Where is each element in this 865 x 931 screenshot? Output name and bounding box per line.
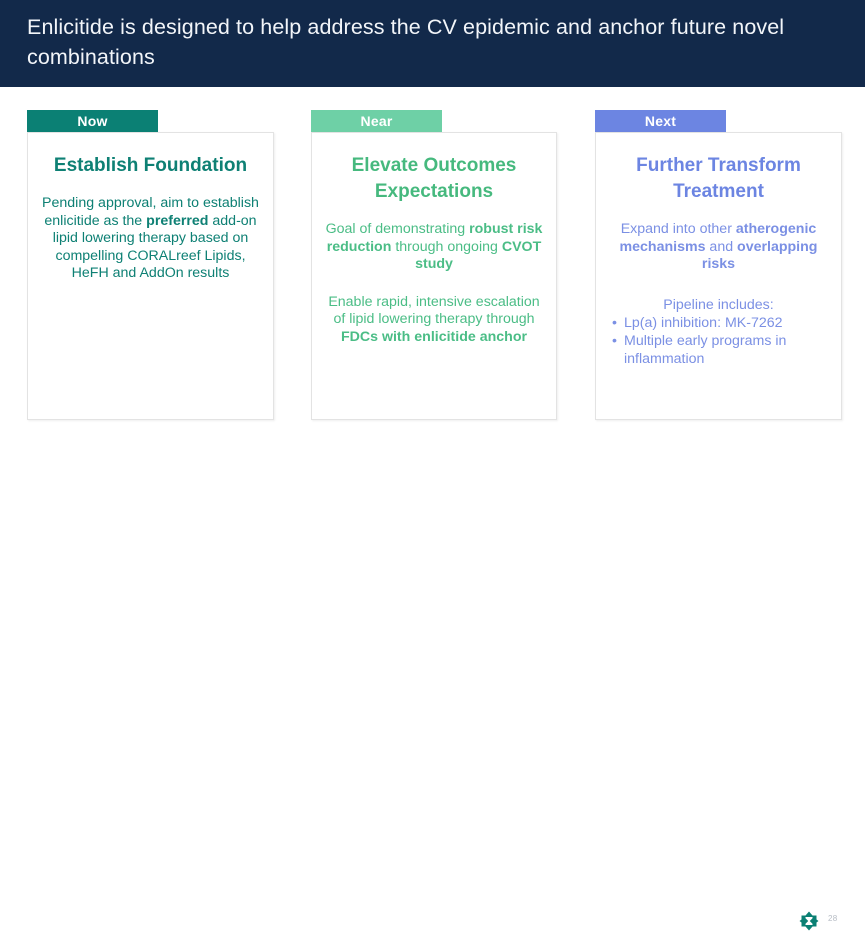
- roadmap-column-near: Near Elevate Outcomes Expectations Goal …: [311, 110, 557, 420]
- card-title-near: Elevate Outcomes Expectations: [324, 153, 544, 205]
- body-text: Enable rapid, intensive escalation of li…: [328, 294, 539, 328]
- pipeline-bullet-list: •Lp(a) inhibition: MK-7262•Multiple earl…: [608, 314, 829, 368]
- pipeline-label: Pipeline includes:: [608, 296, 829, 314]
- card-body-near-1: Enable rapid, intensive escalation of li…: [324, 294, 544, 347]
- list-item-label: Multiple early programs in inflammation: [624, 333, 786, 367]
- bullet-dot-icon: •: [612, 332, 617, 350]
- company-logo-icon: [799, 911, 819, 931]
- phase-card-now: Establish Foundation Pending approval, a…: [27, 132, 274, 420]
- phase-card-next: Further Transform Treatment Expand into …: [595, 132, 842, 420]
- body-text: and: [705, 239, 737, 255]
- roadmap-column-now: Now Establish Foundation Pending approva…: [27, 110, 274, 420]
- card-body-next-0: Expand into other atherogenic mechanisms…: [608, 221, 829, 274]
- page-title: Enlicitide is designed to help address t…: [27, 12, 827, 72]
- body-text: Expand into other: [621, 221, 736, 237]
- slide-footer: 28: [0, 452, 865, 485]
- phase-tab-now[interactable]: Now: [27, 110, 158, 132]
- body-text: through ongoing: [391, 239, 501, 255]
- phase-tab-next[interactable]: Next: [595, 110, 726, 132]
- list-item: •Lp(a) inhibition: MK-7262: [608, 314, 829, 332]
- slide-header-band: Enlicitide is designed to help address t…: [0, 0, 865, 87]
- roadmap-column-next: Next Further Transform Treatment Expand …: [595, 110, 842, 420]
- body-text: Goal of demonstrating: [326, 221, 470, 237]
- card-body-now-0: Pending approval, aim to establish enlic…: [40, 195, 261, 283]
- list-item: •Multiple early programs in inflammation: [608, 332, 829, 368]
- card-title-next: Further Transform Treatment: [608, 153, 829, 205]
- phase-tab-near[interactable]: Near: [311, 110, 442, 132]
- card-body-near-0: Goal of demonstrating robust risk reduct…: [324, 221, 544, 274]
- bullet-dot-icon: •: [612, 314, 617, 332]
- emphasis-text: FDCs with enlicitide anchor: [341, 329, 527, 345]
- phase-card-near: Elevate Outcomes Expectations Goal of de…: [311, 132, 557, 420]
- emphasis-text: preferred: [146, 213, 208, 229]
- card-title-now: Establish Foundation: [40, 153, 261, 179]
- page-number: 28: [828, 914, 838, 923]
- list-item-label: Lp(a) inhibition: MK-7262: [624, 315, 783, 331]
